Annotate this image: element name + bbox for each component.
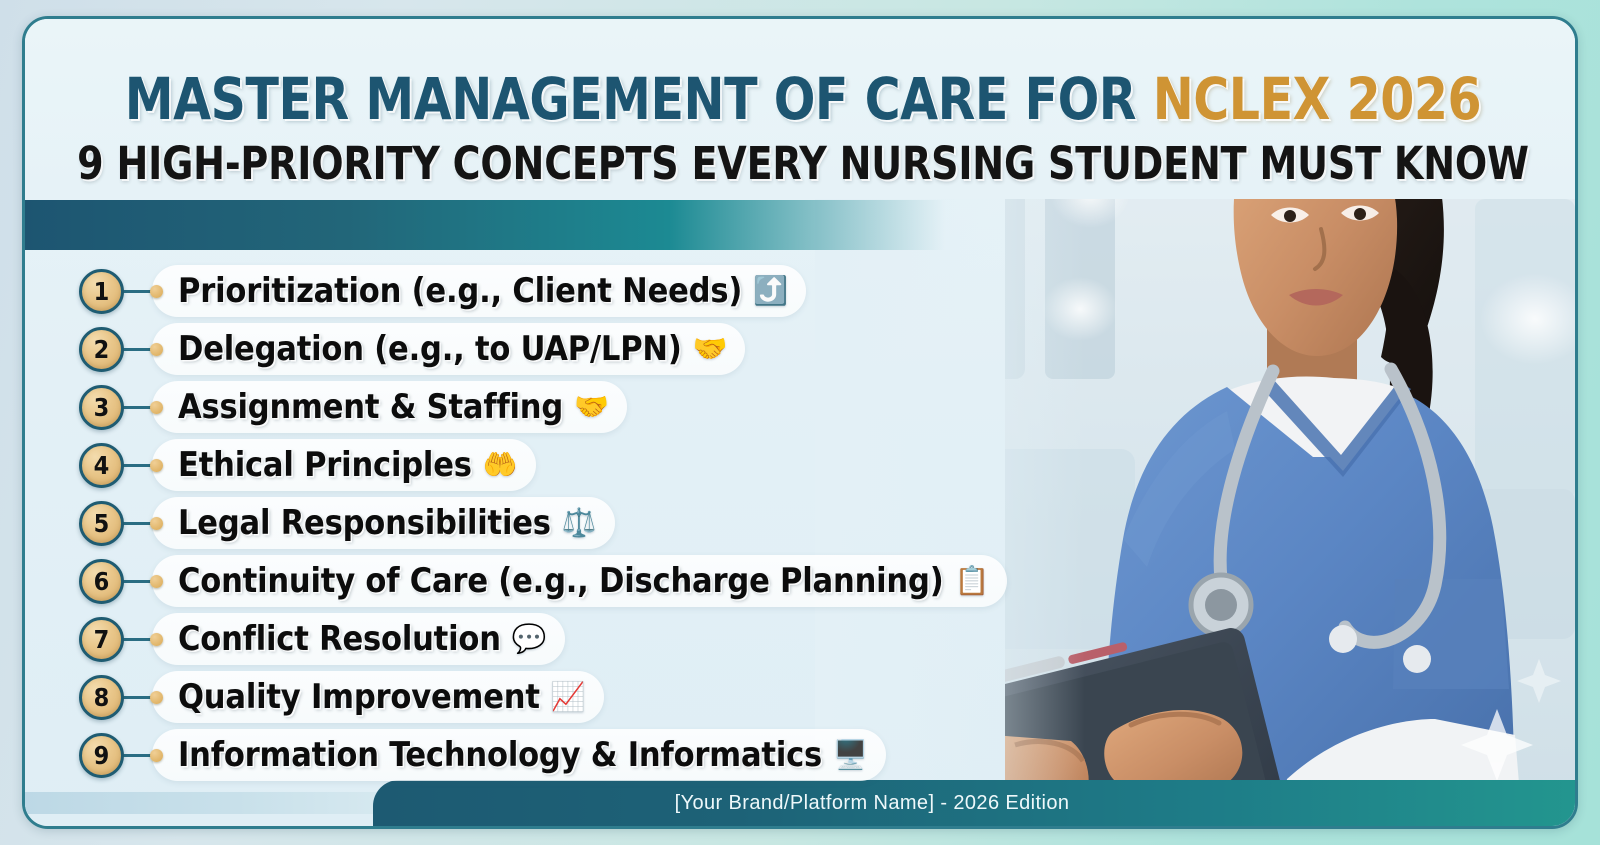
concept-row: 7Conflict Resolution💬 — [79, 610, 1039, 668]
concept-label: Continuity of Care (e.g., Discharge Plan… — [178, 561, 943, 601]
concept-number-badge: 9 — [79, 733, 124, 778]
infographic-card: MASTER MANAGEMENT OF CARE FOR NCLEX 2026… — [22, 16, 1578, 829]
concept-list: 1Prioritization (e.g., Client Needs)⤴️2D… — [79, 262, 1039, 784]
rising-chart-icon: 📈 — [551, 683, 586, 711]
header-accent-band — [25, 200, 945, 250]
concept-pill[interactable]: Ethical Principles🤲 — [152, 439, 536, 491]
concept-pill[interactable]: Delegation (e.g., to UAP/LPN)🤝 — [152, 323, 745, 375]
connector-dot — [150, 343, 163, 356]
connector-dot — [150, 749, 163, 762]
connector — [124, 675, 166, 720]
concept-row: 3Assignment & Staffing🤝 — [79, 378, 1039, 436]
header: MASTER MANAGEMENT OF CARE FOR NCLEX 2026… — [25, 19, 1578, 199]
page-subtitle: 9 HIGH-PRIORITY CONCEPTS EVERY NURSING S… — [72, 137, 1535, 190]
footer-brand-text: [Your Brand/Platform Name] - 2026 Editio… — [675, 792, 1070, 815]
footer-left-strip — [25, 792, 385, 814]
concept-label: Legal Responsibilities — [178, 503, 551, 543]
connector-dot — [150, 459, 163, 472]
page-title-main: MASTER MANAGEMENT OF CARE FOR — [125, 65, 1153, 133]
concept-label: Conflict Resolution — [178, 619, 501, 659]
concept-label: Assignment & Staffing — [178, 387, 563, 427]
concept-number-badge: 1 — [79, 269, 124, 314]
concept-number-badge: 8 — [79, 675, 124, 720]
connector-dot — [150, 575, 163, 588]
concept-label: Delegation (e.g., to UAP/LPN) — [178, 329, 682, 369]
connector — [124, 269, 166, 314]
concept-pill[interactable]: Prioritization (e.g., Client Needs)⤴️ — [152, 265, 806, 317]
priority-arrows-icon: ⤴️ — [753, 277, 788, 305]
infographic-canvas: MASTER MANAGEMENT OF CARE FOR NCLEX 2026… — [0, 0, 1600, 845]
connector-dot — [150, 285, 163, 298]
concept-row: 5Legal Responsibilities⚖️ — [79, 494, 1039, 552]
footer-bar: [Your Brand/Platform Name] - 2026 Editio… — [373, 780, 1578, 826]
page-title: MASTER MANAGEMENT OF CARE FOR NCLEX 2026 — [72, 65, 1535, 133]
computer-monitor-icon: 🖥️ — [833, 741, 868, 769]
clipboard-icon: 📋 — [954, 567, 989, 595]
concept-pill[interactable]: Information Technology & Informatics🖥️ — [152, 729, 886, 781]
concept-number-badge: 3 — [79, 385, 124, 430]
connector — [124, 617, 166, 662]
concept-number-badge: 4 — [79, 443, 124, 488]
concept-label: Ethical Principles — [178, 445, 472, 485]
concept-row: 8Quality Improvement📈 — [79, 668, 1039, 726]
connector — [124, 327, 166, 372]
handshake-icon: 🤝 — [574, 393, 609, 421]
connector-dot — [150, 633, 163, 646]
page-title-accent: NCLEX 2026 — [1153, 65, 1482, 133]
concept-label: Quality Improvement — [178, 677, 540, 717]
connector — [124, 559, 166, 604]
concept-pill[interactable]: Conflict Resolution💬 — [152, 613, 565, 665]
concept-pill[interactable]: Quality Improvement📈 — [152, 671, 604, 723]
scales-of-justice-icon: ⚖️ — [562, 509, 597, 537]
handshake-icon: 🤝 — [693, 335, 728, 363]
concept-row: 9Information Technology & Informatics🖥️ — [79, 726, 1039, 784]
connector-dot — [150, 401, 163, 414]
connector — [124, 385, 166, 430]
concept-row: 4Ethical Principles🤲 — [79, 436, 1039, 494]
concept-row: 1Prioritization (e.g., Client Needs)⤴️ — [79, 262, 1039, 320]
concept-row: 2Delegation (e.g., to UAP/LPN)🤝 — [79, 320, 1039, 378]
connector-dot — [150, 517, 163, 530]
concept-number-badge: 7 — [79, 617, 124, 662]
connector — [124, 733, 166, 778]
concept-pill[interactable]: Legal Responsibilities⚖️ — [152, 497, 615, 549]
concept-number-badge: 2 — [79, 327, 124, 372]
connector — [124, 443, 166, 488]
concept-label: Prioritization (e.g., Client Needs) — [178, 271, 742, 311]
concept-number-badge: 5 — [79, 501, 124, 546]
connector-dot — [150, 691, 163, 704]
connector — [124, 501, 166, 546]
concept-number-badge: 6 — [79, 559, 124, 604]
concept-row: 6Continuity of Care (e.g., Discharge Pla… — [79, 552, 1039, 610]
speech-bubbles-icon: 💬 — [512, 625, 547, 653]
concept-label: Information Technology & Informatics — [178, 735, 822, 775]
concept-pill[interactable]: Continuity of Care (e.g., Discharge Plan… — [152, 555, 1007, 607]
hand-check-icon: 🤲 — [483, 451, 518, 479]
concept-pill[interactable]: Assignment & Staffing🤝 — [152, 381, 627, 433]
